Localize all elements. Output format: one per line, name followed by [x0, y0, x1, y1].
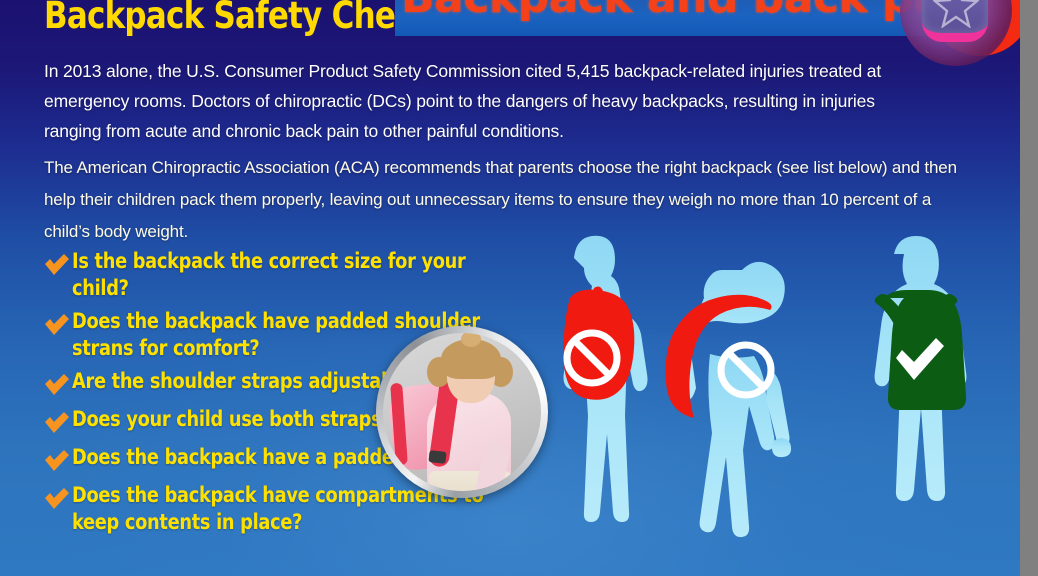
orange-check-icon: [42, 372, 72, 400]
silhouette-figures-group: [530, 228, 1020, 576]
infographic-canvas: Backpack Safety Checklist In 2013 alone,…: [0, 0, 1020, 576]
photo-inner: [383, 333, 541, 491]
list-item: Is the backpack the correct size for you…: [42, 248, 532, 302]
orange-check-icon: [42, 486, 72, 514]
list-item-label: Is the backpack the correct size for you…: [72, 248, 504, 302]
aca-recommendation-paragraph: The American Chiropractic Association (A…: [44, 152, 974, 248]
orange-check-icon: [42, 312, 72, 340]
orange-check-icon: [42, 252, 72, 280]
girl-with-pink-backpack-photo: [376, 326, 548, 498]
orange-check-icon: [42, 410, 72, 438]
figure-correct-posture: [875, 236, 967, 501]
backpack-buckle: [428, 450, 446, 464]
intro-paragraph: In 2013 alone, the U.S. Consumer Product…: [44, 56, 934, 146]
figure-hunched-overloaded: [666, 262, 792, 537]
orange-check-icon: [42, 448, 72, 476]
figure-one-strap-slouch: [564, 236, 648, 522]
screenshot-root: Backpack Safety Checklist In 2013 alone,…: [0, 0, 1038, 576]
page-gutter: [1020, 0, 1038, 576]
